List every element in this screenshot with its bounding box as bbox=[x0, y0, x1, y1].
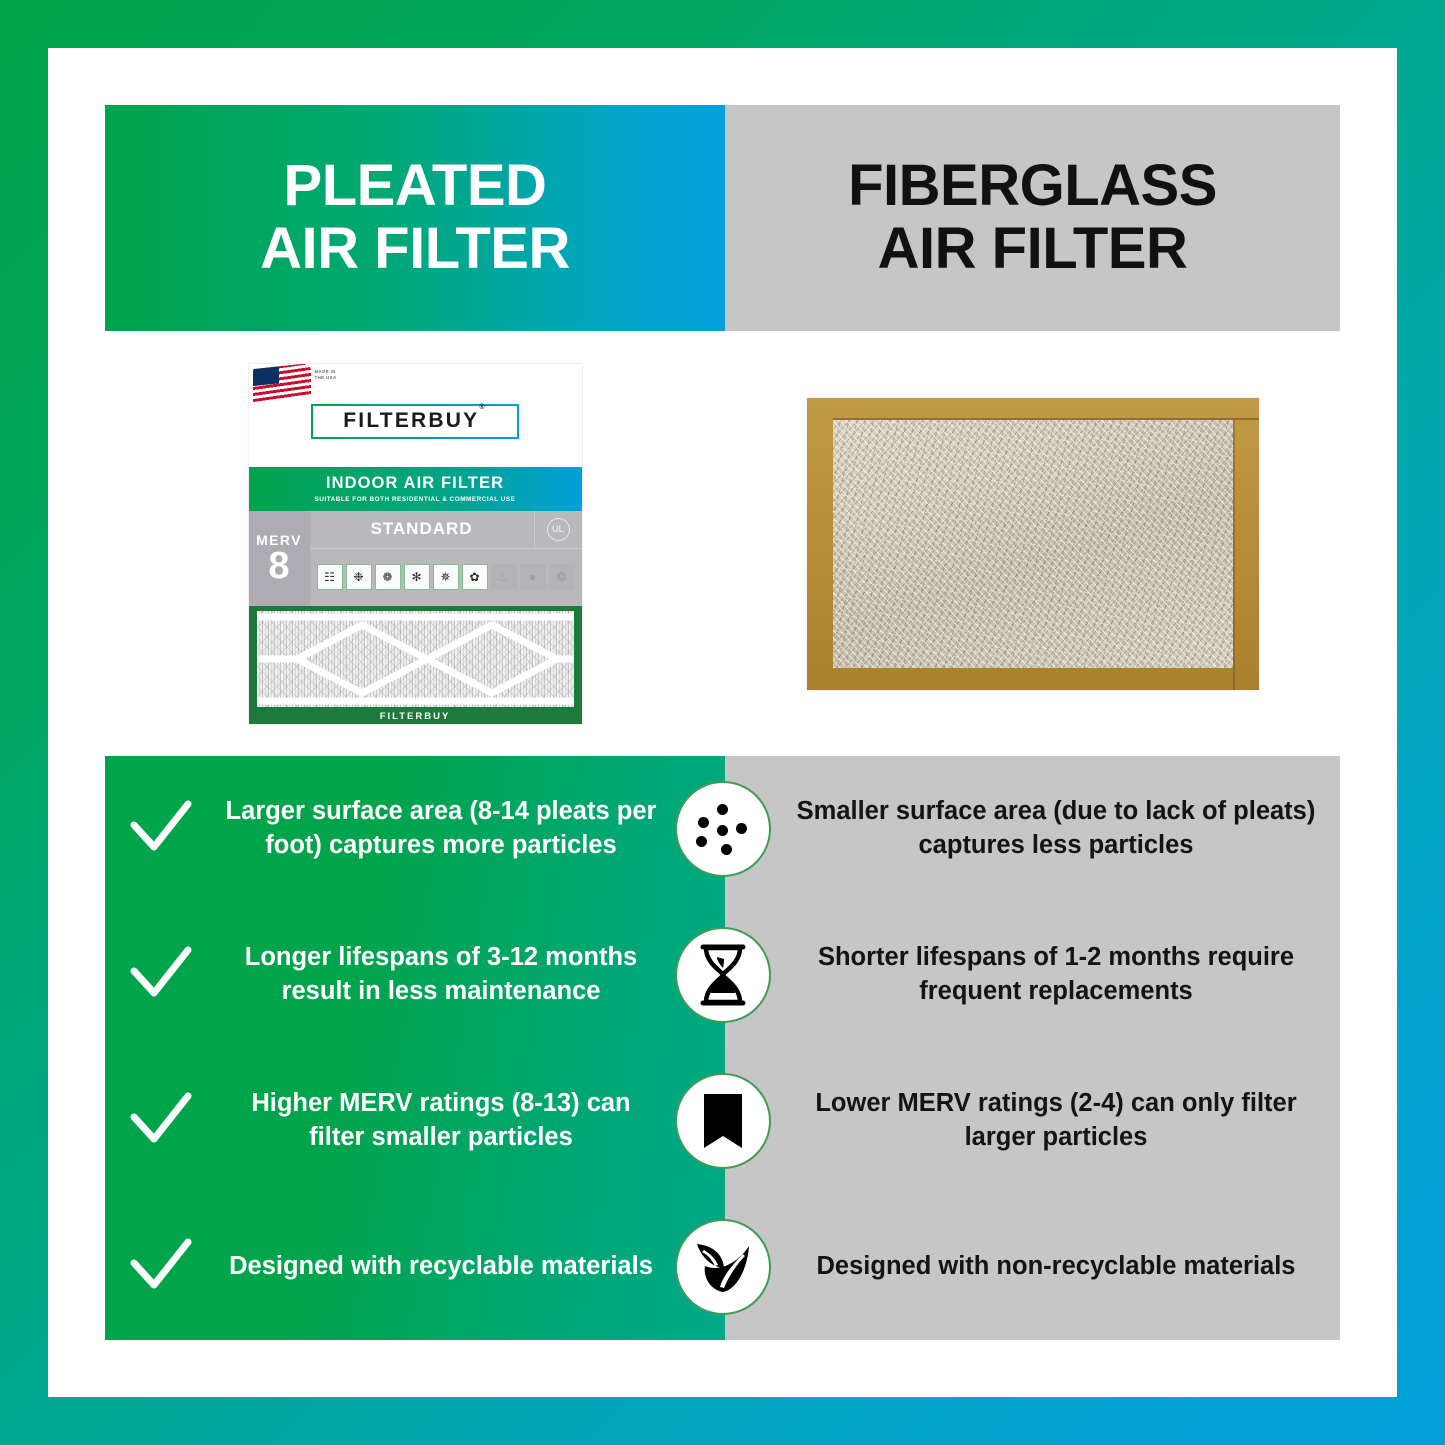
dust-mites-icon: ✵ bbox=[433, 564, 459, 590]
pleated-header-line2: AIR FILTER bbox=[260, 216, 570, 281]
bookmark-ribbon-icon bbox=[675, 1073, 771, 1169]
dots-group bbox=[695, 803, 751, 855]
row-icon-cell bbox=[665, 1073, 780, 1169]
check-mark-icon bbox=[105, 1238, 217, 1296]
ul-mark-icon: UL bbox=[547, 518, 570, 541]
pleated-header-line1: PLEATED bbox=[284, 153, 547, 218]
infographic-poster: PLEATED AIR FILTER FIBERGLASS AIR FILTER bbox=[0, 0, 1445, 1445]
dot bbox=[736, 823, 747, 834]
check-mark-icon bbox=[105, 946, 217, 1004]
mold-icon: ✻ bbox=[404, 564, 430, 590]
grade-label: STANDARD bbox=[310, 519, 534, 539]
bacteria-icon: ● bbox=[520, 564, 546, 590]
fiberglass-mesh-texture bbox=[833, 420, 1233, 668]
usa-flag-icon bbox=[253, 364, 311, 403]
row-text-fiberglass: Designed with non-recyclable materials bbox=[780, 1250, 1340, 1284]
dot bbox=[721, 844, 732, 855]
pleated-header-title: PLEATED AIR FILTER bbox=[260, 155, 570, 280]
fiberglass-header-line2: AIR FILTER bbox=[878, 216, 1188, 281]
row-icon-cell bbox=[665, 1219, 780, 1315]
row-icon-cell bbox=[665, 927, 780, 1023]
fiberglass-header-line1: FIBERGLASS bbox=[848, 153, 1217, 218]
pleated-product-cell: MADE IN THE USA FILTERBUY® INDOOR AIR FI… bbox=[105, 331, 725, 756]
row-icon-cell bbox=[665, 781, 780, 877]
comparison-row: Higher MERV ratings (8-13) can filter sm… bbox=[105, 1048, 1340, 1194]
merv-rating-badge: MERV 8 bbox=[249, 511, 310, 606]
frame-right-seam bbox=[1233, 420, 1235, 690]
comparison-row: Larger surface area (8-14 pleats per foo… bbox=[105, 756, 1340, 902]
comparison-content: PLEATED AIR FILTER FIBERGLASS AIR FILTER bbox=[105, 105, 1340, 1340]
hourglass-glyph-icon bbox=[697, 944, 749, 1006]
trademark-symbol: ® bbox=[479, 404, 486, 411]
row-text-pleated: Longer lifespans of 3-12 months result i… bbox=[217, 941, 665, 1008]
row-text-pleated: Higher MERV ratings (8-13) can filter sm… bbox=[217, 1087, 665, 1154]
merv-value: 8 bbox=[268, 548, 289, 584]
dot bbox=[698, 817, 709, 828]
filterbuy-logo-frame: FILTERBUY® bbox=[311, 404, 519, 439]
particles-dots-icon bbox=[675, 781, 771, 877]
pet-dander-icon: ✿ bbox=[462, 564, 488, 590]
virus-icon: ❂ bbox=[549, 564, 575, 590]
row-text-fiberglass: Shorter lifespans of 1-2 months require … bbox=[780, 941, 1340, 1008]
grade-row: STANDARD UL bbox=[310, 511, 582, 549]
lint-fibers-icon: ❉ bbox=[346, 564, 372, 590]
check-glyph-icon bbox=[130, 800, 192, 858]
check-mark-icon bbox=[105, 1092, 217, 1150]
header-row: PLEATED AIR FILTER FIBERGLASS AIR FILTER bbox=[105, 105, 1340, 331]
dot bbox=[717, 825, 728, 836]
pleated-media-surface bbox=[257, 611, 574, 707]
check-mark-icon bbox=[105, 800, 217, 858]
ul-certification: UL bbox=[534, 511, 582, 548]
smoke-icon: ♨ bbox=[491, 564, 517, 590]
check-glyph-icon bbox=[130, 1238, 192, 1296]
filterbuy-brand-text: FILTERBUY bbox=[343, 409, 479, 432]
spec-right-column: STANDARD UL ☷ ❉ ❁ ✻ bbox=[310, 511, 582, 606]
leaves-eco-icon bbox=[675, 1219, 771, 1315]
poster-white-inner: PLEATED AIR FILTER FIBERGLASS AIR FILTER bbox=[48, 48, 1397, 1397]
fiberglass-filter-product-image bbox=[807, 398, 1259, 690]
check-glyph-icon bbox=[130, 1092, 192, 1150]
fiberglass-media-window bbox=[833, 420, 1233, 668]
indoor-air-filter-band: INDOOR AIR FILTER SUITABLE FOR BOTH RESI… bbox=[249, 467, 582, 511]
filterbox-top: MADE IN THE USA FILTERBUY® bbox=[249, 364, 582, 467]
dot bbox=[717, 804, 728, 815]
made-in-line2: THE USA bbox=[315, 375, 337, 380]
pollen-icon: ❁ bbox=[375, 564, 401, 590]
made-in-usa-label: MADE IN THE USA bbox=[315, 369, 337, 382]
comparison-section: Larger surface area (8-14 pleats per foo… bbox=[105, 756, 1340, 1340]
comparison-row: Designed with recyclable materials bbox=[105, 1194, 1340, 1340]
band-subtitle: SUITABLE FOR BOTH RESIDENTIAL & COMMERCI… bbox=[315, 496, 516, 503]
filterbuy-filter-product-image: MADE IN THE USA FILTERBUY® INDOOR AIR FI… bbox=[249, 364, 582, 724]
leaves-glyph-icon bbox=[693, 1238, 753, 1296]
filterbuy-footer-brand: FILTERBUY bbox=[249, 711, 582, 722]
pleated-media-photo: FILTERBUY bbox=[249, 606, 582, 724]
filter-spec-strip: MERV 8 STANDARD UL bbox=[249, 511, 582, 606]
support-wire-pattern-icon bbox=[257, 611, 574, 707]
fiberglass-header-title: FIBERGLASS AIR FILTER bbox=[848, 155, 1217, 280]
bookmark-glyph-icon bbox=[702, 1092, 744, 1150]
feature-icon-row: ☷ ❉ ❁ ✻ ✵ ✿ ♨ ● ❂ bbox=[310, 549, 582, 606]
comparison-row: Longer lifespans of 3-12 months result i… bbox=[105, 902, 1340, 1048]
comparison-rows: Larger surface area (8-14 pleats per foo… bbox=[105, 756, 1340, 1340]
made-in-line1: MADE IN bbox=[315, 369, 336, 374]
fiberglass-product-cell bbox=[725, 331, 1340, 756]
pleated-header-panel: PLEATED AIR FILTER bbox=[105, 105, 725, 331]
row-text-pleated: Larger surface area (8-14 pleats per foo… bbox=[217, 795, 665, 862]
household-dust-icon: ☷ bbox=[317, 564, 343, 590]
hourglass-icon bbox=[675, 927, 771, 1023]
check-glyph-icon bbox=[130, 946, 192, 1004]
fiberglass-header-panel: FIBERGLASS AIR FILTER bbox=[725, 105, 1340, 331]
row-text-fiberglass: Smaller surface area (due to lack of ple… bbox=[780, 795, 1340, 862]
filterbuy-logo: FILTERBUY® bbox=[343, 409, 486, 433]
dot bbox=[696, 836, 707, 847]
row-text-pleated: Designed with recyclable materials bbox=[217, 1250, 665, 1284]
product-image-row: MADE IN THE USA FILTERBUY® INDOOR AIR FI… bbox=[105, 331, 1340, 756]
row-text-fiberglass: Lower MERV ratings (2-4) can only filter… bbox=[780, 1087, 1340, 1154]
band-title: INDOOR AIR FILTER bbox=[326, 474, 504, 493]
